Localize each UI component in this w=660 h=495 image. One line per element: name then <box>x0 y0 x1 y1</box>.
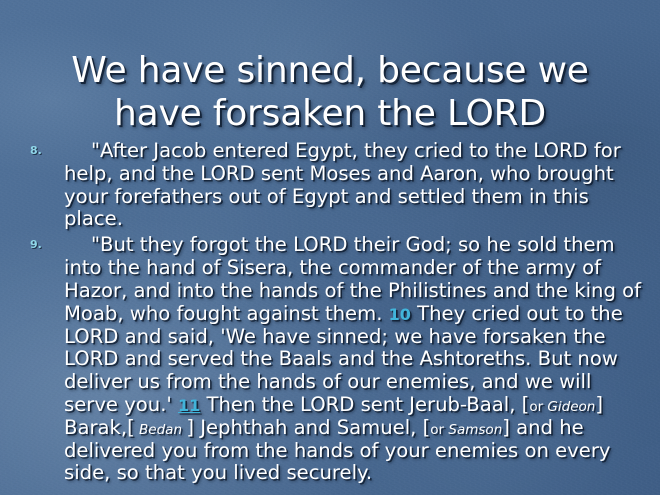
paragraph-text: "But they forgot the LORD their God; so … <box>64 234 642 485</box>
footnote-label: or <box>430 422 448 438</box>
slide-body: 8."After Jacob entered Egypt, they cried… <box>26 140 642 486</box>
footnote-italic: Gideon <box>547 399 595 415</box>
paragraph-text: "After Jacob entered Egypt, they cried t… <box>64 140 642 231</box>
footnote-bracket: ] <box>595 393 603 416</box>
footnote-italic: Samson <box>448 422 502 438</box>
footnote-bracket: ] <box>186 416 194 439</box>
list-marker: 9. <box>30 239 56 252</box>
footnote-label: or <box>529 399 547 415</box>
text-run: "After Jacob entered Egypt, they cried t… <box>64 139 621 230</box>
footnote-bracket: [ <box>127 416 135 439</box>
verse-number: 10 <box>389 305 411 324</box>
text-run: Then the LORD sent Jerub-Baal, <box>200 393 521 416</box>
body-paragraph: 8."After Jacob entered Egypt, they cried… <box>26 140 642 231</box>
text-run: Barak, <box>64 416 127 439</box>
footnote-italic: Bedan <box>135 422 187 438</box>
body-paragraph: 9."But they forgot the LORD their God; s… <box>26 234 642 485</box>
presentation-slide: We have sinned, because we have forsaken… <box>0 0 660 495</box>
text-run: Jephthah and Samuel, <box>194 416 423 439</box>
footnote-bracket: ] <box>502 416 510 439</box>
verse-number: 11 <box>178 396 200 415</box>
slide-title: We have sinned, because we have forsaken… <box>28 50 632 136</box>
list-marker: 8. <box>30 145 56 158</box>
